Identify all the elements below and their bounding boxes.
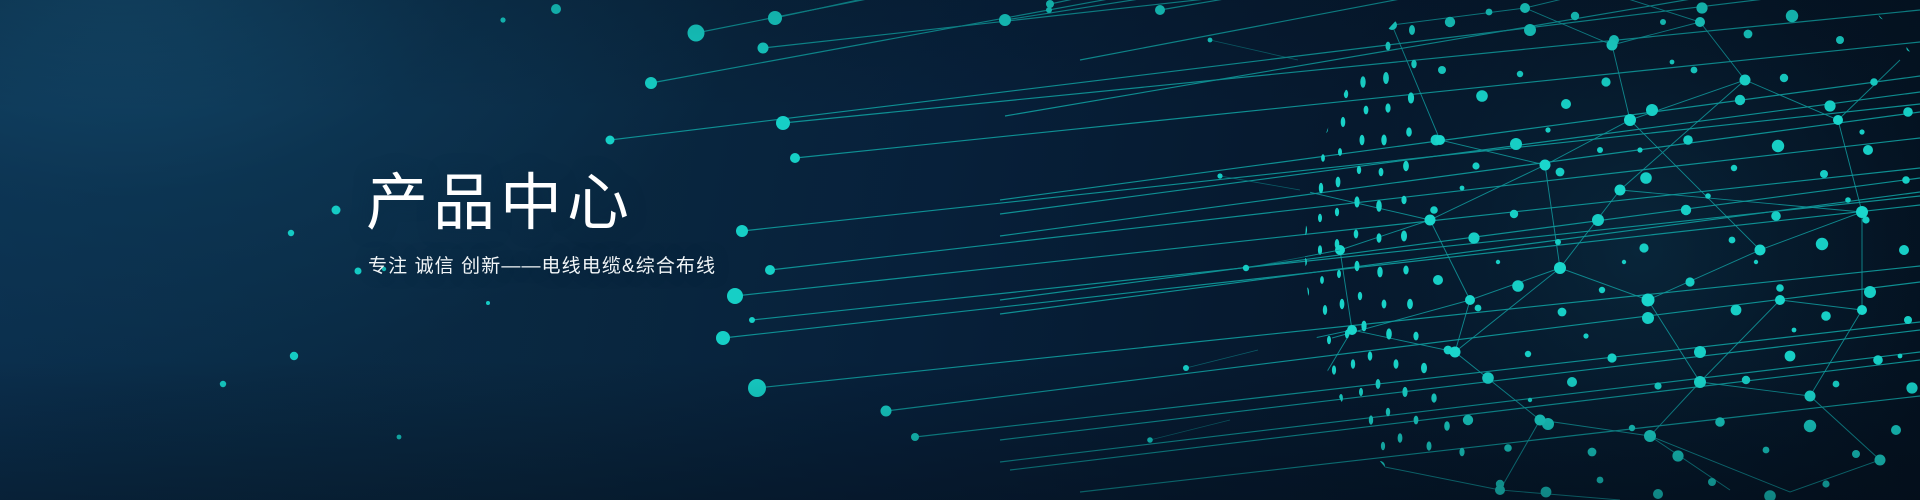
banner-text-block: 产品中心 专注 诚信 创新——电线电缆&综合布线	[366, 172, 716, 279]
page-title: 产品中心	[366, 172, 716, 236]
banner-vignette-overlay	[0, 0, 1920, 500]
page-subtitle: 专注 诚信 创新——电线电缆&综合布线	[368, 256, 716, 279]
product-center-banner: 产品中心 专注 诚信 创新——电线电缆&综合布线	[0, 0, 1920, 500]
